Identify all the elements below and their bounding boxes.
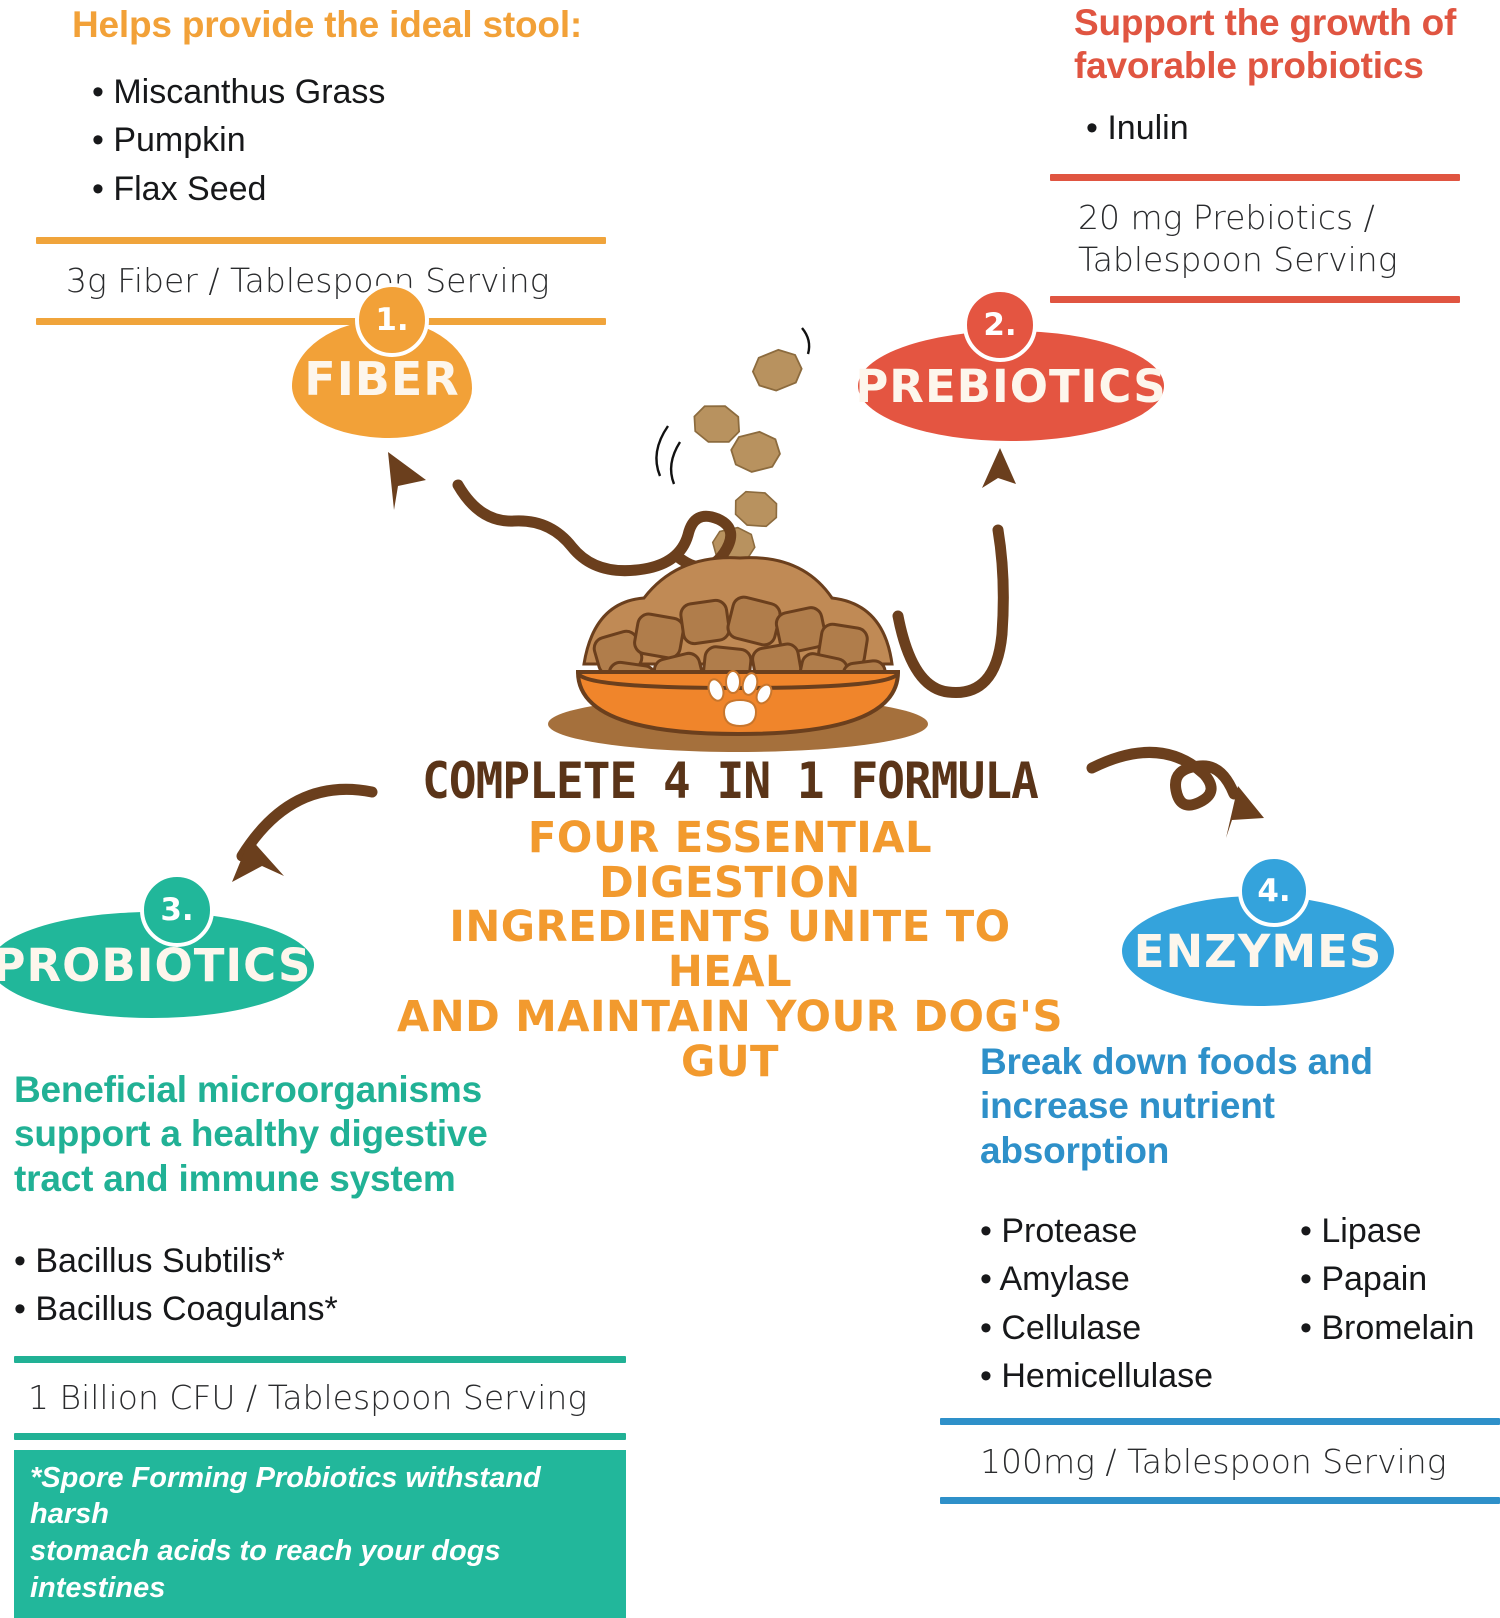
enzymes-title-line2: increase nutrient — [980, 1084, 1500, 1128]
probiotics-title-line1: Beneficial microorganisms — [14, 1068, 626, 1112]
list-item: • Bacillus Coagulans* — [14, 1285, 626, 1333]
prebiotics-badge-label: PREBIOTICS — [855, 360, 1166, 413]
enzymes-badge-label: ENZYMES — [1134, 925, 1383, 978]
probiotics-panel: Beneficial microorganisms support a heal… — [14, 1068, 626, 1618]
prebiotics-serving: 20 mg Prebiotics / Tablespoon Serving — [1078, 197, 1460, 281]
list-item: • Inulin — [1086, 104, 1460, 152]
list-item: • Bacillus Subtilis* — [14, 1237, 626, 1285]
prebiotics-title-line2: favorable probiotics — [1074, 45, 1460, 88]
prebiotics-title: Support the growth of favorable probioti… — [1074, 2, 1460, 88]
prebiotics-rule-top — [1050, 174, 1460, 181]
list-item: • Amylase — [980, 1255, 1300, 1303]
prebiotics-serving-line1: 20 mg Prebiotics / — [1078, 197, 1460, 239]
enzymes-step-number: 4. — [1238, 855, 1310, 927]
prebiotics-step-number: 2. — [963, 288, 1037, 362]
list-item: • Miscanthus Grass — [92, 68, 636, 116]
prebiotics-serving-line2: Tablespoon Serving — [1078, 239, 1460, 281]
probiotics-serving: 1 Billion CFU / Tablespoon Serving — [28, 1377, 626, 1419]
probiotics-badge-label: PROBIOTICS — [0, 939, 311, 992]
arrowhead-fiber — [388, 452, 426, 510]
list-item: • Papain — [1300, 1255, 1474, 1303]
probiotics-title-line3: tract and immune system — [14, 1157, 626, 1201]
list-item: • Flax Seed — [92, 165, 636, 213]
probiotics-rule-top — [14, 1356, 626, 1363]
arrow-to-probiotics — [242, 789, 372, 856]
fiber-rule-bottom — [36, 318, 606, 325]
probiotics-title-line2: support a healthy digestive — [14, 1112, 626, 1156]
probiotics-title: Beneficial microorganisms support a heal… — [14, 1068, 626, 1201]
fiber-step-number: 1. — [355, 283, 429, 357]
page-title: COMPLETE 4 IN 1 FORMULA — [408, 752, 1052, 810]
arrowhead-prebiotics — [982, 448, 1016, 488]
list-item: • Hemicellulase — [980, 1352, 1300, 1400]
enzymes-serving: 100mg / Tablespoon Serving — [980, 1441, 1500, 1483]
formula-subhead: FOUR ESSENTIAL DIGESTION INGREDIENTS UNI… — [391, 816, 1070, 1084]
fiber-title: Helps provide the ideal stool: — [72, 4, 636, 46]
probiotics-ingredient-list: • Bacillus Subtilis* • Bacillus Coagulan… — [14, 1237, 626, 1334]
list-item: • Bromelain — [1300, 1304, 1474, 1352]
enzymes-title: Break down foods and increase nutrient a… — [980, 1040, 1500, 1173]
prebiotics-title-line1: Support the growth of — [1074, 2, 1460, 45]
probiotics-step-number: 3. — [140, 873, 214, 947]
probiotics-footnote-line1: *Spore Forming Probiotics withstand hars… — [30, 1460, 614, 1533]
enzymes-list-column-1: • Protease • Amylase • Cellulase • Hemic… — [980, 1207, 1300, 1400]
formula-subhead-line1: FOUR ESSENTIAL DIGESTION — [391, 816, 1070, 905]
fiber-panel: Helps provide the ideal stool: • Miscant… — [36, 0, 636, 325]
probiotics-rule-bottom — [14, 1433, 626, 1440]
enzymes-ingredient-list: • Protease • Amylase • Cellulase • Hemic… — [980, 1207, 1500, 1400]
arrow-to-enzymes — [1092, 752, 1234, 805]
list-item: • Cellulase — [980, 1304, 1300, 1352]
probiotics-footnote-line2: stomach acids to reach your dogs intesti… — [30, 1533, 614, 1606]
fiber-serving: 3g Fiber / Tablespoon Serving — [66, 260, 636, 302]
prebiotics-ingredient-list: • Inulin — [1086, 104, 1460, 152]
fiber-rule-top — [36, 237, 606, 244]
list-item: • Pumpkin — [92, 116, 636, 164]
arrow-to-fiber — [458, 485, 731, 571]
list-item: • Lipase — [1300, 1207, 1474, 1255]
prebiotics-panel: Support the growth of favorable probioti… — [1040, 0, 1460, 303]
list-item: • Protease — [980, 1207, 1300, 1255]
fiber-badge-label: FIBER — [304, 352, 459, 406]
enzymes-title-line1: Break down foods and — [980, 1040, 1500, 1084]
formula-headline-block: COMPLETE 4 IN 1 FORMULA FOUR ESSENTIAL D… — [380, 752, 1080, 1084]
enzymes-list-column-2: • Lipase • Papain • Bromelain — [1300, 1207, 1474, 1400]
enzymes-panel: Break down foods and increase nutrient a… — [980, 1040, 1500, 1504]
dog-bowl-illustration — [548, 558, 928, 752]
arrow-to-prebiotics — [898, 530, 1003, 693]
probiotics-footnote: *Spore Forming Probiotics withstand hars… — [14, 1450, 626, 1618]
prebiotics-rule-bottom — [1050, 296, 1460, 303]
enzymes-title-line3: absorption — [980, 1129, 1500, 1173]
fiber-ingredient-list: • Miscanthus Grass • Pumpkin • Flax Seed — [92, 68, 636, 213]
enzymes-rule-top — [940, 1418, 1500, 1425]
enzymes-rule-bottom — [940, 1497, 1500, 1504]
formula-subhead-line2: INGREDIENTS UNITE TO HEAL — [391, 905, 1070, 994]
